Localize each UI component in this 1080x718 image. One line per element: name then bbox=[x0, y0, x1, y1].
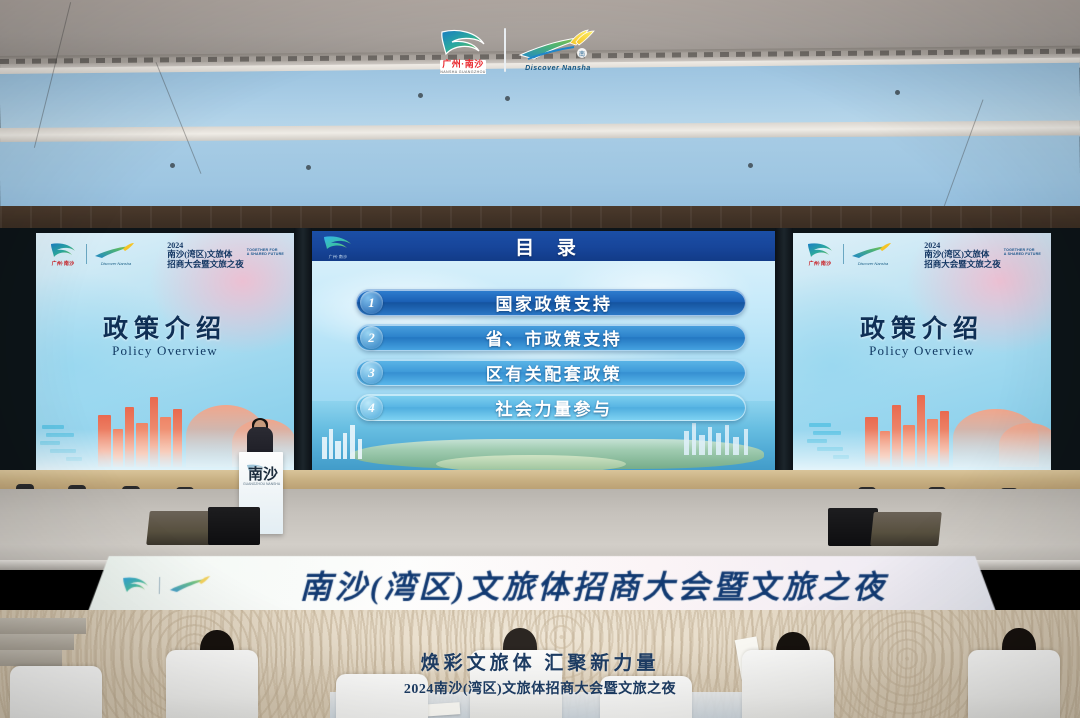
discover-nansha-logo: 南 Discover Nansha bbox=[516, 29, 600, 72]
stage-monitor-wedge bbox=[870, 512, 942, 546]
audience-chair bbox=[166, 650, 258, 718]
slide-menu-item-3[interactable]: 3 区有关配套政策 bbox=[356, 359, 746, 386]
led-panel-center-slide: 广州·南沙 目 录 bbox=[312, 231, 788, 475]
stage-monitor-speaker bbox=[208, 507, 260, 545]
podium-brand: 南沙 bbox=[248, 468, 278, 482]
right-panel-title-cn: 政策介绍 bbox=[793, 309, 1051, 345]
ceiling-speaker-dot bbox=[306, 165, 311, 170]
gz-logo-text: 广州·南沙 bbox=[440, 60, 486, 69]
menu-item-number: 4 bbox=[360, 396, 383, 419]
stage-front-banner: 南沙(湾区)文旅体招商大会暨文旅之夜 bbox=[87, 556, 997, 614]
event-title-line2: 招商大会暨文旅之夜 bbox=[167, 260, 244, 270]
led-panel-right: 广州·南沙 Discover Nansha bbox=[793, 233, 1051, 475]
left-panel-event-title: 2024 南沙(湾区)文旅体 招商大会暨文旅之夜 TOGETHER FOR A … bbox=[167, 241, 284, 270]
menu-item-label: 区有关配套政策 bbox=[383, 360, 745, 385]
stage-stair-step bbox=[0, 618, 86, 634]
ceiling-blue-band-lower bbox=[0, 135, 1080, 214]
conference-stage-photo: 广州·南沙 NANSHA GUANGZHOU bbox=[0, 0, 1080, 718]
left-panel-header: 广州·南沙 Discov bbox=[46, 241, 284, 271]
ceiling-speaker-dot bbox=[748, 163, 753, 168]
event-tagline-line2: A SHARED FUTURE bbox=[247, 252, 284, 256]
banner-logo-group bbox=[118, 574, 216, 596]
led-video-wall: 广州·南沙 Discov bbox=[0, 228, 1080, 478]
slide-menu-item-1[interactable]: 1 国家政策支持 bbox=[356, 289, 746, 316]
logo-divider bbox=[843, 244, 844, 264]
right-panel-logos: 广州·南沙 Discover Nansha bbox=[803, 241, 896, 267]
event-tagline-line2: A SHARED FUTURE bbox=[1004, 252, 1041, 256]
audience-chair bbox=[470, 650, 562, 718]
discover-nansha-wave-icon bbox=[93, 242, 139, 261]
left-panel-title-en: Policy Overview bbox=[36, 343, 294, 359]
menu-item-number: 3 bbox=[360, 361, 383, 384]
audience-seating-area bbox=[0, 610, 1080, 718]
led-panel-seam-left bbox=[294, 228, 312, 478]
banner-title-text: 南沙(湾区)文旅体招商大会暨文旅之夜 bbox=[215, 562, 997, 608]
discover-nansha-wave-icon: 南 bbox=[516, 29, 600, 65]
left-panel-logos: 广州·南沙 Discov bbox=[46, 241, 139, 267]
slide-header-logo-text: 广州·南沙 bbox=[318, 254, 358, 260]
audience-chair bbox=[10, 666, 102, 718]
slide-contents-menu: 1 国家政策支持 2 省、市政策支持 3 区有关配套政策 4 社会力量参与 bbox=[356, 289, 746, 429]
stage-stair-step bbox=[0, 634, 74, 650]
logo-divider bbox=[86, 244, 87, 264]
ceiling-speaker-dot bbox=[418, 93, 423, 98]
audience-chair bbox=[968, 650, 1060, 718]
right-panel-gz-text: 广州·南沙 bbox=[809, 260, 832, 267]
left-panel-dn-text: Discover Nansha bbox=[101, 261, 131, 266]
menu-item-label: 省、市政策支持 bbox=[383, 325, 745, 350]
ceiling-logo-group: 广州·南沙 NANSHA GUANGZHOU bbox=[432, 24, 642, 76]
right-panel-header: 广州·南沙 Discover Nansha bbox=[803, 241, 1041, 271]
nansha-bird-icon bbox=[803, 241, 837, 260]
slide-menu-item-2[interactable]: 2 省、市政策支持 bbox=[356, 324, 746, 351]
right-panel-title-en: Policy Overview bbox=[793, 343, 1051, 359]
discover-nansha-wave-icon bbox=[850, 242, 896, 261]
guangzhou-nansha-logo: 广州·南沙 NANSHA GUANGZHOU bbox=[432, 26, 494, 73]
menu-item-number: 2 bbox=[360, 326, 383, 349]
led-panel-seam-right bbox=[775, 228, 793, 478]
menu-item-label: 国家政策支持 bbox=[383, 290, 745, 315]
nansha-bird-icon bbox=[432, 26, 494, 60]
right-panel-dn-text: Discover Nansha bbox=[858, 261, 888, 266]
ceiling-speaker-dot bbox=[505, 96, 510, 101]
audience-chair bbox=[742, 650, 834, 718]
podium-logo bbox=[244, 458, 270, 466]
slide-menu-item-4[interactable]: 4 社会力量参与 bbox=[356, 394, 746, 421]
logo-divider bbox=[504, 28, 506, 72]
discover-nansha-wave-icon bbox=[167, 574, 216, 596]
ceiling-speaker-dot bbox=[170, 163, 175, 168]
nansha-bird-icon bbox=[118, 574, 153, 596]
menu-item-label: 社会力量参与 bbox=[383, 395, 745, 420]
slide-header-bar: 广州·南沙 目 录 bbox=[312, 231, 788, 261]
svg-text:南: 南 bbox=[579, 50, 585, 58]
gz-logo-subtext: NANSHA GUANGZHOU bbox=[440, 70, 486, 74]
slide-title: 目 录 bbox=[515, 233, 585, 260]
nansha-bird-icon bbox=[46, 241, 80, 260]
menu-item-number: 1 bbox=[360, 291, 383, 314]
right-panel-skyline-graphic bbox=[793, 365, 1051, 475]
slide-header-logo: 广州·南沙 bbox=[318, 235, 358, 257]
event-title-line2: 招商大会暨文旅之夜 bbox=[924, 260, 1001, 270]
audience-chair bbox=[336, 674, 428, 718]
left-panel-gz-text: 广州·南沙 bbox=[52, 260, 75, 267]
right-panel-event-title: 2024 南沙(湾区)文旅体 招商大会暨文旅之夜 TOGETHER FOR A … bbox=[924, 241, 1041, 270]
logo-divider bbox=[159, 577, 160, 594]
audience-chair bbox=[600, 676, 692, 718]
ceiling-speaker-dot bbox=[895, 90, 900, 95]
left-panel-title-cn: 政策介绍 bbox=[36, 309, 294, 345]
dn-logo-text: Discover Nansha bbox=[525, 65, 591, 72]
stage-stair-step bbox=[0, 650, 62, 666]
